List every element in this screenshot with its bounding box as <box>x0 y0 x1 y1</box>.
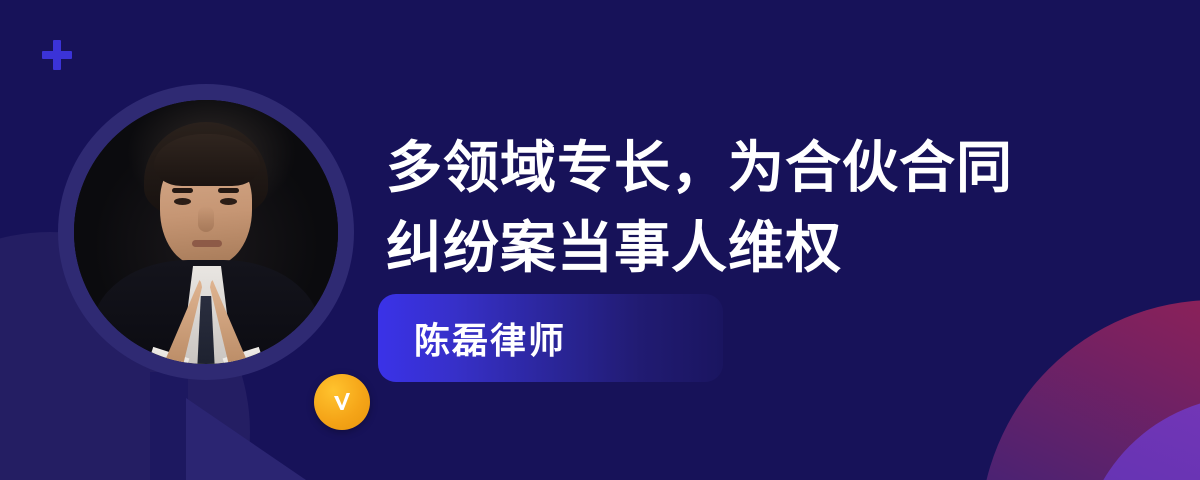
lawyer-name-badge: 陈磊律师 <box>378 294 723 382</box>
lawyer-name-label: 陈磊律师 <box>414 312 566 364</box>
lawyer-promo-banner: 多领域专长，为合伙合同 纠纷案当事人维权 陈磊律师 <box>0 0 1200 480</box>
avatar-photo <box>74 100 338 364</box>
portrait-brow-right <box>218 188 239 193</box>
band-decoration-left <box>150 372 188 480</box>
portrait-eye-left <box>174 198 191 205</box>
headline-text: 多领域专长，为合伙合同 纠纷案当事人维权 <box>386 128 1086 287</box>
portrait-mouth <box>192 240 222 247</box>
triangle-decoration <box>186 398 306 480</box>
verified-badge-icon <box>314 374 370 430</box>
portrait-image <box>74 100 338 364</box>
avatar <box>58 84 354 380</box>
plus-icon <box>42 40 72 70</box>
portrait-eye-right <box>220 198 237 205</box>
portrait-nose <box>198 206 214 232</box>
portrait-brow-left <box>172 188 193 193</box>
portrait-hair-front <box>154 134 260 186</box>
